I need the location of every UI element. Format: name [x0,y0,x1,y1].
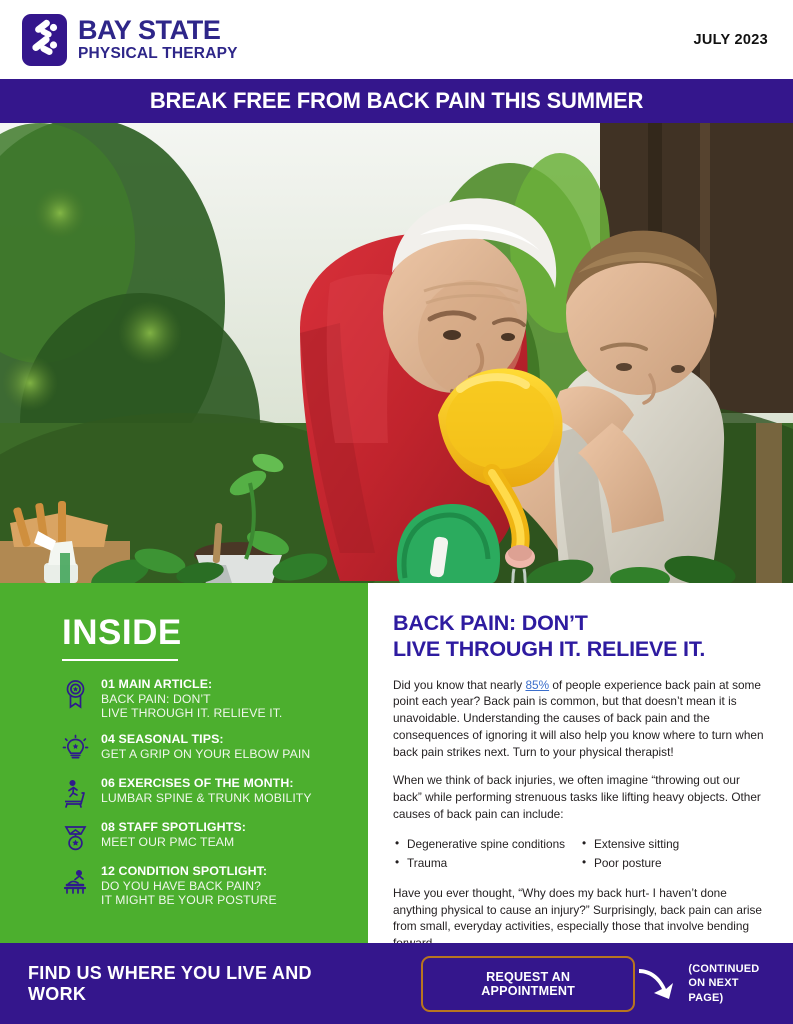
brand-logo[interactable]: BAY STATE PHYSICAL THERAPY [22,14,238,66]
inside-item-seasonal-tips[interactable]: 04 SEASONAL TIPS: GET A GRIP ON YOUR ELB… [62,732,344,764]
inside-divider [62,659,178,661]
inside-item-text: 12 CONDITION SPOTLIGHT: DO YOU HAVE BACK… [101,864,277,907]
request-appointment-button[interactable]: REQUEST AN APPOINTMENT [421,956,635,1012]
footer-next-text: (CONTINUED ON NEXT PAGE) [688,962,767,1004]
footer-bar: FIND US WHERE YOU LIVE AND WORK REQUEST … [0,943,793,1024]
footer-next-page: (CONTINUED ON NEXT PAGE) [635,962,775,1004]
award-ribbon-icon [62,679,89,709]
bullet-column-left: Degenerative spine conditions Trauma [393,835,580,873]
inside-list: 01 MAIN ARTICLE: BACK PAIN: DON’T LIVE T… [62,677,344,908]
inside-item-line: LIVE THROUGH IT. RELIEVE IT. [101,706,282,720]
inside-item-line: BACK PAIN: DON’T [101,692,282,706]
inside-title: INSIDE [62,615,344,650]
inside-item-line: DO YOU HAVE BACK PAIN? [101,879,277,893]
brand-subtitle: PHYSICAL THERAPY [78,46,238,62]
banner-headline: BREAK FREE FROM BACK PAIN THIS SUMMER [150,88,643,114]
causes-bullet-list: Degenerative spine conditions Trauma Ext… [393,835,767,873]
inside-item-text: 04 SEASONAL TIPS: GET A GRIP ON YOUR ELB… [101,732,310,761]
inside-item-text: 06 EXERCISES OF THE MONTH: LUMBAR SPINE … [101,776,312,805]
treadmill-runner-icon [62,778,89,808]
bullet-item: Poor posture [580,854,767,873]
inside-item-condition-spotlight[interactable]: 12 CONDITION SPOTLIGHT: DO YOU HAVE BACK… [62,864,344,907]
issue-date: JULY 2023 [694,32,768,48]
brand-name: BAY STATE [78,17,238,44]
bullet-item: Extensive sitting [580,835,767,854]
medal-icon [62,822,89,852]
inside-item-line: GET A GRIP ON YOUR ELBOW PAIN [101,747,310,761]
article-title: BACK PAIN: DON’T LIVE THROUGH IT. RELIEV… [393,611,767,663]
inside-item-heading: 04 SEASONAL TIPS: [101,732,310,747]
bullet-item: Degenerative spine conditions [393,835,580,854]
bullet-item: Trauma [393,854,580,873]
lightbulb-icon [62,734,89,764]
inside-item-text: 08 STAFF SPOTLIGHTS: MEET OUR PMC TEAM [101,820,246,849]
article-paragraph-1: Did you know that nearly 85% of people e… [393,677,767,761]
inside-panel: INSIDE 01 MAIN ARTICLE: BACK PAI [0,583,368,943]
article-paragraph-3: Have you ever thought, “Why does my back… [393,885,767,952]
headline-banner: BREAK FREE FROM BACK PAIN THIS SUMMER [0,79,793,123]
inside-item-heading: 08 STAFF SPOTLIGHTS: [101,820,246,835]
footer-next-line2: ON NEXT PAGE) [688,976,767,1004]
newsletter-page: BAY STATE PHYSICAL THERAPY JULY 2023 BRE… [0,0,793,1024]
inside-item-line: MEET OUR PMC TEAM [101,835,246,849]
article-title-line1: BACK PAIN: DON’T [393,611,767,637]
inside-item-heading: 12 CONDITION SPOTLIGHT: [101,864,277,879]
inside-item-heading: 06 EXERCISES OF THE MONTH: [101,776,312,791]
inside-item-heading: 01 MAIN ARTICLE: [101,677,282,692]
brand-wordmark: BAY STATE PHYSICAL THERAPY [78,17,238,62]
article-paragraph-2: When we think of back injuries, we often… [393,772,767,822]
article-title-line2: LIVE THROUGH IT. RELIEVE IT. [393,637,767,663]
inside-item-line: LUMBAR SPINE & TRUNK MOBILITY [101,791,312,805]
bullet-column-right: Extensive sitting Poor posture [580,835,767,873]
inside-item-text: 01 MAIN ARTICLE: BACK PAIN: DON’T LIVE T… [101,677,282,720]
para1-before: Did you know that nearly [393,678,525,692]
inside-item-staff-spotlights[interactable]: 08 STAFF SPOTLIGHTS: MEET OUR PMC TEAM [62,820,344,852]
inside-item-exercises[interactable]: 06 EXERCISES OF THE MONTH: LUMBAR SPINE … [62,776,344,808]
massage-table-icon [62,866,89,896]
article-column: BACK PAIN: DON’T LIVE THROUGH IT. RELIEV… [368,583,793,943]
content-row: INSIDE 01 MAIN ARTICLE: BACK PAI [0,583,793,943]
footer-tagline: FIND US WHERE YOU LIVE AND WORK [28,963,351,1005]
footer-next-line1: (CONTINUED [688,962,767,976]
stat-link[interactable]: 85% [525,678,549,692]
runner-logo-icon [22,14,67,66]
inside-item-line: IT MIGHT BE YOUR POSTURE [101,893,277,907]
hero-photo [0,123,793,583]
curved-arrow-icon [635,963,679,1003]
inside-item-main-article[interactable]: 01 MAIN ARTICLE: BACK PAIN: DON’T LIVE T… [62,677,344,720]
masthead: BAY STATE PHYSICAL THERAPY JULY 2023 [0,0,793,79]
